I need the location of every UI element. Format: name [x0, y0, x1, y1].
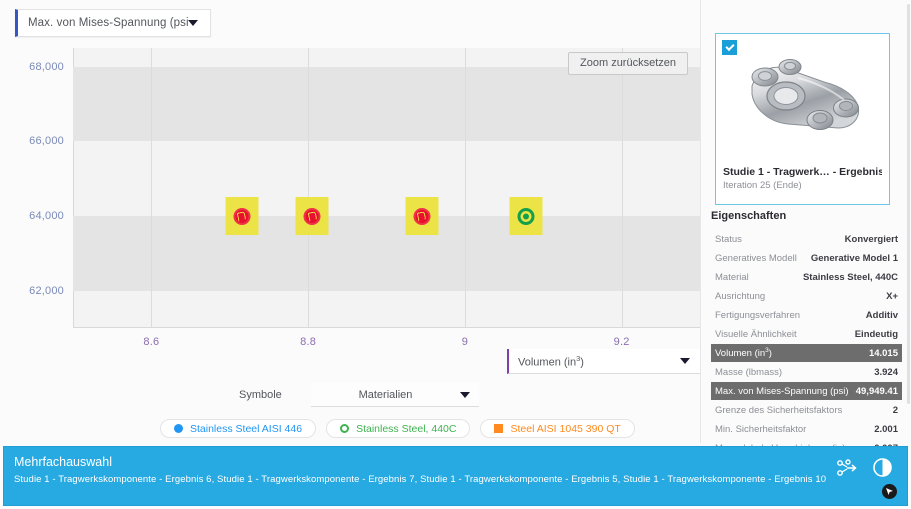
- y-axis-tick: 68,000: [29, 61, 64, 73]
- property-row[interactable]: Visuelle ÄhnlichkeitEindeutig: [711, 325, 902, 343]
- marker-thumb-red: [304, 208, 321, 225]
- y-axis-tick: 62,000: [29, 285, 64, 297]
- property-value: X+: [886, 291, 898, 302]
- status-bar-icons: [836, 457, 893, 478]
- property-key: Grenze des Sicherheitsfaktors: [715, 405, 842, 416]
- property-row[interactable]: StatusKonvergiert: [711, 230, 902, 248]
- property-value: 3.924: [874, 367, 898, 378]
- result-card[interactable]: Studie 1 - Tragwerk… - Ergebnis 6 Iterat…: [715, 33, 890, 205]
- x-axis-tick: 9: [462, 336, 468, 348]
- chart-band: [73, 67, 700, 142]
- data-point[interactable]: [405, 197, 438, 235]
- property-row[interactable]: AusrichtungX+: [711, 287, 902, 305]
- legend-label: Stainless Steel, 440C: [356, 423, 456, 435]
- chart-band: [73, 216, 700, 291]
- property-key: Masse (lbmass): [715, 367, 782, 378]
- mechanical-part-icon: [728, 42, 878, 154]
- chart-legend: Stainless Steel AISI 446Stainless Steel,…: [160, 419, 635, 438]
- marker-thumb-red: [413, 208, 430, 225]
- property-key: Min. Sicherheitsfaktor: [715, 424, 806, 435]
- y-axis-metric-value: Volumen (in3): [509, 354, 680, 369]
- legend-ring-icon: [340, 424, 349, 433]
- legend-item[interactable]: Steel AISI 1045 390 QT: [480, 419, 634, 438]
- chevron-down-icon[interactable]: [680, 358, 690, 364]
- symbols-row: Symbole Materialien: [239, 383, 479, 407]
- property-key: Material: [715, 272, 749, 283]
- chart-gridline: [151, 48, 152, 328]
- reset-zoom-button[interactable]: Zoom zurücksetzen: [568, 52, 688, 75]
- property-row[interactable]: Max. von Mises-Spannung (psi)49,949.41: [711, 382, 902, 400]
- legend-label: Stainless Steel AISI 446: [190, 423, 302, 435]
- property-key: Visuelle Ähnlichkeit: [715, 329, 797, 340]
- y-axis-metric-select[interactable]: Volumen (in3): [507, 349, 700, 374]
- chart-gridline: [308, 48, 309, 328]
- marker-thumb-red: [233, 208, 250, 225]
- property-key: Fertigungsverfahren: [715, 310, 800, 321]
- x-axis-tick: 8.8: [300, 336, 316, 348]
- properties-heading: Eigenschaften: [711, 210, 902, 222]
- property-value: 2.001: [874, 424, 898, 435]
- result-card-title: Studie 1 - Tragwerk… - Ergebnis 6: [723, 166, 882, 178]
- legend-item[interactable]: Stainless Steel AISI 446: [160, 419, 316, 438]
- status-bar-subtitle: Studie 1 - Tragwerkskomponente - Ergebni…: [14, 474, 826, 485]
- symbols-label: Symbole: [239, 389, 311, 401]
- legend-label: Steel AISI 1045 390 QT: [510, 423, 620, 435]
- property-key: Max. von Mises-Spannung (psi): [715, 386, 849, 397]
- status-bar-title: Mehrfachauswahl: [14, 455, 112, 469]
- data-point[interactable]: [296, 197, 329, 235]
- property-row[interactable]: Volumen (in3)14.015: [711, 344, 902, 362]
- property-row[interactable]: Generatives ModellGenerative Model 1: [711, 249, 902, 267]
- plot-bottom-edge: [73, 327, 700, 328]
- y-axis-tick: 66,000: [29, 135, 64, 147]
- result-card-caption: Studie 1 - Tragwerk… - Ergebnis 6 Iterat…: [716, 162, 889, 191]
- property-key: Status: [715, 234, 742, 245]
- property-key: Volumen (in3): [715, 347, 772, 359]
- app-root: Max. von Mises-Spannung (psi) 62,00064,0…: [0, 0, 911, 509]
- chevron-down-icon[interactable]: [460, 392, 470, 398]
- y-axis-labels: 62,00064,00066,00068,000: [0, 40, 72, 328]
- property-value: 49,949.41: [856, 386, 898, 397]
- result-card-subtitle: Iteration 25 (Ende): [723, 180, 882, 191]
- property-row[interactable]: MaterialStainless Steel, 440C: [711, 268, 902, 286]
- property-value: Stainless Steel, 440C: [803, 272, 898, 283]
- property-key: Generatives Modell: [715, 253, 797, 264]
- property-value: Generative Model 1: [811, 253, 898, 264]
- legend-square-icon: [494, 424, 503, 433]
- property-value: Additiv: [866, 310, 898, 321]
- property-value: 14.015: [869, 348, 898, 359]
- property-row[interactable]: Min. Sicherheitsfaktor2.001: [711, 420, 902, 438]
- symbols-select-value: Materialien: [311, 389, 460, 401]
- plot-area[interactable]: [73, 48, 700, 328]
- property-row[interactable]: Grenze des Sicherheitsfaktors2: [711, 401, 902, 419]
- y-axis-tick: 64,000: [29, 210, 64, 222]
- metric-select-value: Max. von Mises-Spannung (psi): [18, 17, 188, 29]
- symbols-select[interactable]: Materialien: [311, 383, 479, 407]
- property-row[interactable]: Masse (lbmass)3.924: [711, 363, 902, 381]
- legend-circle-icon: [174, 424, 183, 433]
- data-point[interactable]: [225, 197, 258, 235]
- property-value: Eindeutig: [855, 329, 898, 340]
- details-panel: Studie 1 - Tragwerk… - Ergebnis 6 Iterat…: [700, 0, 911, 443]
- status-bar: Mehrfachauswahl Studie 1 - Tragwerkskomp…: [3, 446, 908, 506]
- chart-gridline: [622, 48, 623, 328]
- data-point[interactable]: [510, 197, 543, 235]
- property-key: Ausrichtung: [715, 291, 765, 302]
- chevron-down-icon[interactable]: [188, 20, 198, 26]
- property-value: Konvergiert: [845, 234, 898, 245]
- x-axis-tick: 9.2: [614, 336, 630, 348]
- x-axis-tick: 8.6: [143, 336, 159, 348]
- compare-nodes-icon[interactable]: [836, 458, 858, 478]
- cursor-badge-icon: [882, 484, 897, 499]
- property-row[interactable]: FertigungsverfahrenAdditiv: [711, 306, 902, 324]
- properties-list: Eigenschaften StatusKonvergiertGenerativ…: [711, 210, 902, 458]
- property-value: 2: [893, 405, 898, 416]
- contrast-circle-icon[interactable]: [872, 457, 893, 478]
- legend-item[interactable]: Stainless Steel, 440C: [326, 419, 470, 438]
- chart-gridline: [465, 48, 466, 328]
- marker-ring-green: [518, 208, 535, 225]
- panel-scrollbar[interactable]: [907, 4, 910, 404]
- metric-select[interactable]: Max. von Mises-Spannung (psi): [15, 9, 211, 37]
- result-thumbnail: [716, 34, 889, 162]
- result-checkbox[interactable]: [722, 40, 737, 55]
- scatter-chart: 62,00064,00066,00068,000 8.68.899.2 Zoom…: [0, 40, 700, 340]
